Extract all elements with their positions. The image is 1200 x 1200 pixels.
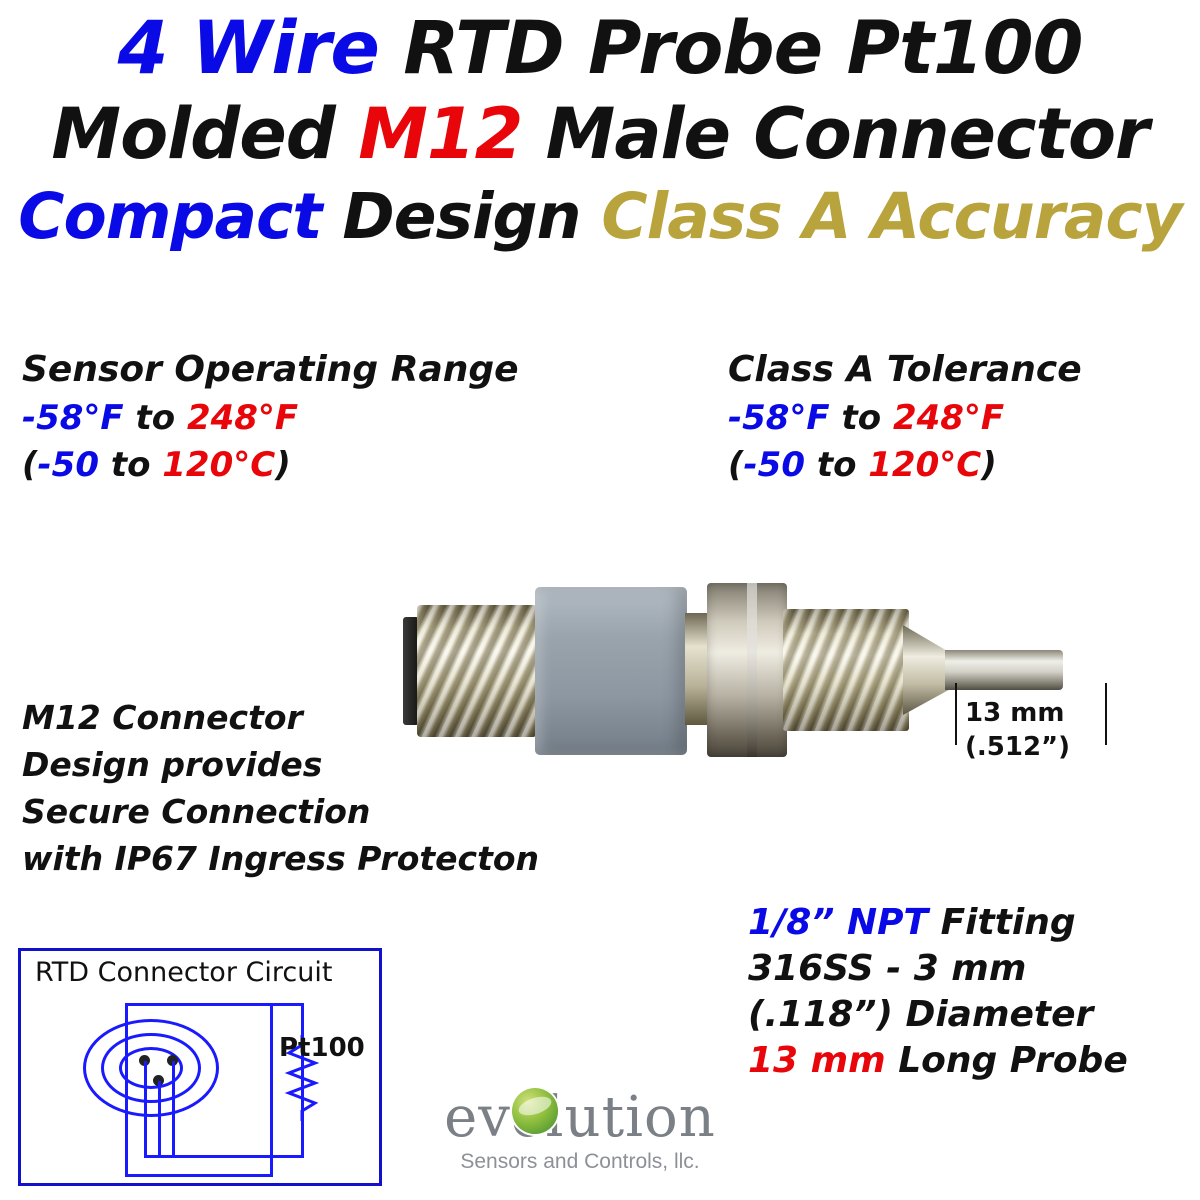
circuit-top-wire	[221, 1003, 304, 1006]
description-line: Secure Connection	[22, 789, 539, 836]
m12-threaded-barrel	[417, 605, 537, 737]
headline-line-3: Compact Design Class A Accuracy	[0, 185, 1200, 248]
molded-grey-body	[535, 587, 687, 755]
logo-tagline: Sensors and Controls, llc.	[420, 1150, 740, 1174]
dimension-value-inch: (.512”)	[965, 731, 1070, 765]
spec-probe-length: 13 mm Long Probe	[748, 1038, 1128, 1084]
sensor-operating-range-title: Sensor Operating Range	[22, 348, 519, 392]
class-a-tolerance-title: Class A Tolerance	[728, 348, 1082, 392]
probe-sheath	[945, 650, 1063, 690]
headline-block: 4 Wire RTD Probe Pt100 Molded M12 Male C…	[0, 0, 1200, 248]
circuit-diagram-title: RTD Connector Circuit	[35, 957, 332, 988]
dimension-tick-left	[955, 683, 957, 745]
leaf-sphere-icon	[512, 1088, 558, 1134]
circuit-wire-c	[158, 1081, 161, 1157]
pt100-element-label: Pt100	[279, 1033, 365, 1063]
probe-taper	[903, 625, 949, 715]
circuit-bottom-wire	[144, 1155, 304, 1158]
product-photo: 13 mm (.512”)	[395, 565, 915, 795]
headline-line-1: 4 Wire RTD Probe Pt100	[0, 12, 1200, 85]
circuit-wire-a	[144, 1061, 147, 1157]
tolerance-celsius: (-50 to 120°C)	[728, 445, 1082, 486]
sensor-operating-range-block: Sensor Operating Range -58°F to 248°F (-…	[22, 348, 519, 487]
rtd-connector-circuit-diagram: RTD Connector Circuit Pt100	[18, 948, 382, 1186]
company-logo: evolution Sensors and Controls, llc.	[420, 1090, 740, 1174]
hex-nut-edge	[747, 583, 757, 757]
probe-specs-block: 1/8” NPT Fitting 316SS - 3 mm (.118”) Di…	[748, 900, 1128, 1084]
sensor-range-fahrenheit: -58°F to 248°F	[22, 398, 519, 439]
spec-material-diameter: 316SS - 3 mm	[748, 946, 1128, 992]
dimension-tick-right	[1105, 683, 1107, 745]
tolerance-fahrenheit: -58°F to 248°F	[728, 398, 1082, 439]
headline-line-2: Molded M12 Male Connector	[0, 99, 1200, 169]
class-a-tolerance-block: Class A Tolerance -58°F to 248°F (-50 to…	[728, 348, 1082, 487]
description-line: with IP67 Ingress Protecton	[22, 836, 539, 883]
dimension-label: 13 mm (.512”)	[965, 697, 1070, 765]
sensor-range-celsius: (-50 to 120°C)	[22, 445, 519, 486]
logo-wordmark: evolution	[420, 1090, 740, 1146]
npt-threaded-fitting	[783, 609, 909, 731]
dimension-value-mm: 13 mm	[965, 697, 1070, 731]
spec-diameter-inches: (.118”) Diameter	[748, 992, 1128, 1038]
spec-npt-fitting: 1/8” NPT Fitting	[748, 900, 1128, 946]
circuit-wire-b	[172, 1061, 175, 1157]
